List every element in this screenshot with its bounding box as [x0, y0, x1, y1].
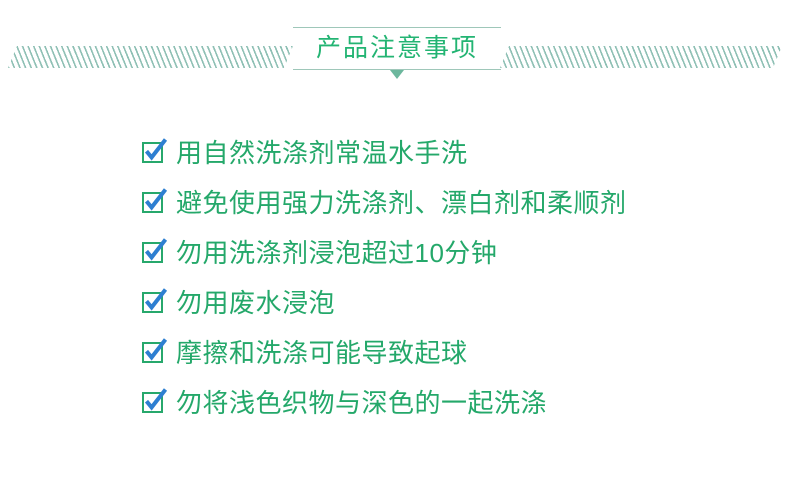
title-rule-top [293, 27, 501, 28]
list-item-label: 用自然洗涤剂常温水手洗 [176, 138, 468, 168]
checkbox-checked-icon [141, 190, 167, 216]
page-header: 产品注意事项 [0, 0, 790, 110]
checkbox-checked-icon [141, 240, 167, 266]
list-item: 勿用废水浸泡 [141, 278, 781, 328]
list-item: 避免使用强力洗涤剂、漂白剂和柔顺剂 [141, 178, 781, 228]
list-item: 摩擦和洗涤可能导致起球 [141, 328, 781, 378]
checkbox-checked-icon [141, 140, 167, 166]
list-item: 用自然洗涤剂常温水手洗 [141, 128, 781, 178]
list-item: 勿将浅色织物与深色的一起洗涤 [141, 378, 781, 428]
checkbox-checked-icon [141, 340, 167, 366]
chevron-down-icon [390, 70, 404, 79]
list-item-label: 勿用废水浸泡 [176, 288, 335, 318]
hatch-decoration-right [500, 46, 782, 68]
title-block: 产品注意事项 [293, 27, 501, 79]
checkbox-checked-icon [141, 390, 167, 416]
page-title: 产品注意事项 [293, 31, 501, 65]
list-item-label: 避免使用强力洗涤剂、漂白剂和柔顺剂 [176, 188, 627, 218]
list-item-label: 摩擦和洗涤可能导致起球 [176, 338, 468, 368]
hatch-decoration-left [8, 46, 293, 68]
care-instructions-list: 用自然洗涤剂常温水手洗 避免使用强力洗涤剂、漂白剂和柔顺剂 勿用洗涤剂浸泡超过1… [141, 128, 781, 428]
checkbox-checked-icon [141, 290, 167, 316]
list-item-label: 勿用洗涤剂浸泡超过10分钟 [176, 238, 497, 268]
list-item: 勿用洗涤剂浸泡超过10分钟 [141, 228, 781, 278]
list-item-label: 勿将浅色织物与深色的一起洗涤 [176, 388, 547, 418]
